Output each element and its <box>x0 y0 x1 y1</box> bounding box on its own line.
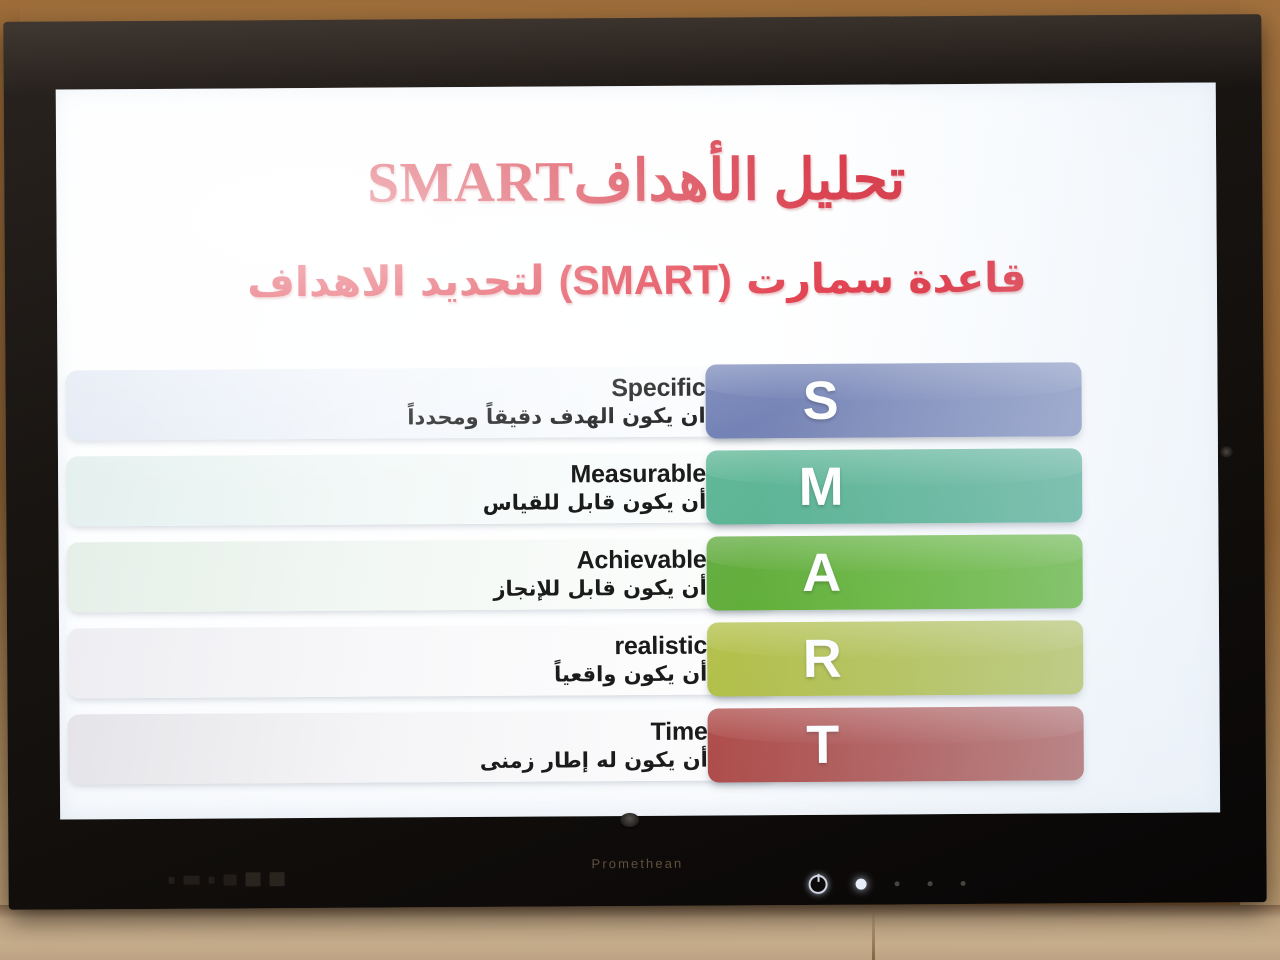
row-label-ar: أن يكون له إطار زمنى <box>88 748 708 777</box>
letter-block-r: R <box>707 620 1083 696</box>
status-led-indicator <box>928 881 933 886</box>
port-icon <box>169 876 175 883</box>
letter-glyph: S <box>802 374 838 428</box>
power-button-icon[interactable] <box>809 875 828 894</box>
block-gloss <box>707 620 1083 658</box>
display-screen[interactable]: تحليل الأهدافSMART قاعدة سمارت (SMART) ل… <box>56 82 1220 819</box>
port-icon <box>209 876 215 883</box>
brand-label: Promethean <box>8 852 1266 875</box>
row-text-bar: Achievable أن يكون قابل للإنجاز <box>66 538 776 612</box>
status-led-indicator <box>856 879 867 890</box>
block-gloss <box>706 534 1082 572</box>
usb-port-icon <box>245 872 260 886</box>
row-text-bar: realistic أن يكون واقعياً <box>67 624 777 698</box>
block-gloss <box>705 362 1081 400</box>
slide-title-arabic: تحليل الأهداف <box>573 148 905 213</box>
letter-block-m: M <box>706 448 1082 524</box>
letter-block-a: A <box>706 534 1082 610</box>
port-icon <box>224 874 237 885</box>
row-label-ar: أن يكون واقعياً <box>87 662 707 691</box>
smart-row-specific: Specific ان يكون الهدف دقيقاً ومحدداً S <box>57 363 1217 442</box>
usb-port-icon <box>269 872 284 886</box>
smart-row-measurable: Measurable أن يكون قابل للقياس M <box>58 449 1218 528</box>
status-led-indicator <box>961 881 966 886</box>
row-text-bar: Time أن يكون له إطار زمنى <box>68 710 778 784</box>
slide-subtitle-latin: (SMART) <box>559 256 732 303</box>
letter-glyph: R <box>803 632 842 686</box>
camera-sensor-icon <box>620 813 639 827</box>
room-background: تحليل الأهدافSMART قاعدة سمارت (SMART) ل… <box>0 0 1280 960</box>
row-label-ar: ان يكون الهدف دقيقاً ومحدداً <box>86 404 706 433</box>
slide-title: تحليل الأهدافSMART <box>56 144 1216 217</box>
row-label-en: Measurable <box>86 460 706 492</box>
letter-block-t: T <box>708 706 1084 782</box>
row-text-group: Achievable أن يكون قابل للإنجاز <box>87 546 707 605</box>
letter-glyph: M <box>798 460 843 514</box>
slide-subtitle-arabic-right: قاعدة سمارت <box>746 254 1027 304</box>
front-control-panel[interactable] <box>809 874 966 894</box>
status-led-indicator <box>895 881 900 886</box>
interactive-flat-panel-display: تحليل الأهدافSMART قاعدة سمارت (SMART) ل… <box>3 14 1266 910</box>
row-text-bar: Measurable أن يكون قابل للقياس <box>66 452 776 526</box>
row-text-group: Measurable أن يكون قابل للقياس <box>86 460 706 519</box>
row-label-ar: أن يكون قابل للإنجاز <box>87 576 707 605</box>
row-label-en: realistic <box>87 632 707 664</box>
port-panel <box>169 872 285 887</box>
slide-title-latin: SMART <box>367 150 574 214</box>
row-text-group: Time أن يكون له إطار زمنى <box>88 718 708 777</box>
port-icon <box>184 875 200 884</box>
row-label-en: Specific <box>85 374 705 406</box>
slide-subtitle-arabic-left: لتحديد الاهداف <box>247 257 544 307</box>
row-label-ar: أن يكون قابل للقياس <box>86 490 706 519</box>
side-sensor-icon <box>1220 446 1233 457</box>
presentation-slide: تحليل الأهدافSMART قاعدة سمارت (SMART) ل… <box>56 82 1220 819</box>
wall-lower <box>0 905 1280 960</box>
smart-row-achievable: Achievable أن يكون قابل للإنجاز A <box>58 535 1218 614</box>
row-text-bar: Specific ان يكون الهدف دقيقاً ومحدداً <box>65 366 775 440</box>
wall-seam <box>872 908 875 960</box>
letter-glyph: A <box>802 546 841 600</box>
smart-rows-list: Specific ان يكون الهدف دقيقاً ومحدداً S <box>57 363 1220 800</box>
letter-glyph: T <box>806 718 839 772</box>
block-gloss <box>706 448 1082 486</box>
block-gloss <box>708 706 1084 744</box>
row-label-en: Time <box>88 718 708 750</box>
row-label-en: Achievable <box>87 546 707 578</box>
smart-row-realistic: realistic أن يكون واقعياً R <box>59 621 1219 700</box>
row-text-group: realistic أن يكون واقعياً <box>87 632 707 691</box>
letter-block-s: S <box>705 362 1081 438</box>
smart-row-time: Time أن يكون له إطار زمنى T <box>60 707 1220 786</box>
slide-subtitle: قاعدة سمارت (SMART) لتحديد الاهداف <box>57 252 1217 307</box>
row-text-group: Specific ان يكون الهدف دقيقاً ومحدداً <box>85 374 705 433</box>
